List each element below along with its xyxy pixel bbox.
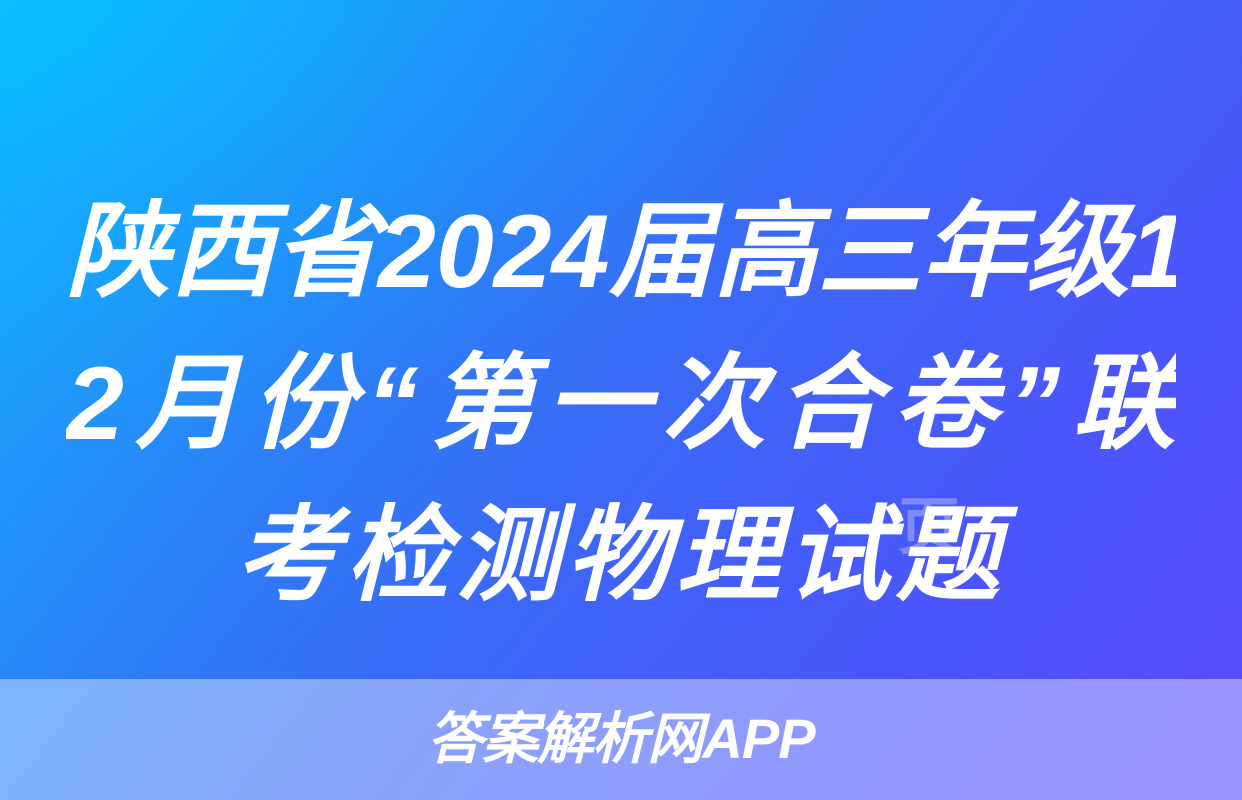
title-glyph: 2 [494,176,552,328]
title-glyph: 一 [546,328,650,480]
title-glyph: 合 [777,328,881,480]
title-glyph: 联 [1072,328,1176,480]
title-glyph: 三 [817,176,921,328]
exam-title-card: 页 陕 西 省 2 0 2 4 届 高 三 年 级 1 2 月 份 “ 第 一 … [0,0,1242,800]
title-glyph: “ [367,328,419,480]
title-line-2: 2 月 份 “ 第 一 次 合 卷 ” 联 [66,328,1176,480]
title-glyph: 次 [661,328,765,480]
title-glyph: 第 [430,328,534,480]
brand-watermark: 答案解析网APP [0,706,1242,772]
title-line-3: 考检测物理试题 [66,480,1176,632]
title-glyph: 高 [713,176,817,328]
title-glyph: 1 [1130,176,1177,328]
title-glyph: 省 [274,176,378,328]
title-glyph: 2 [66,328,124,480]
title-glyph: 月 [135,328,239,480]
title-glyph: 卷 [893,328,997,480]
title-glyph: 0 [436,176,494,328]
title-glyph: ” [1008,328,1060,480]
title-glyph: 陕 [66,176,170,328]
title-line-1: 陕 西 省 2 0 2 4 届 高 三 年 级 1 [66,176,1176,328]
title-glyph: 届 [609,176,713,328]
title-glyph: 年 [921,176,1025,328]
page-title: 陕 西 省 2 0 2 4 届 高 三 年 级 1 2 月 份 “ 第 一 次 … [0,176,1242,632]
title-glyph: 份 [251,328,355,480]
title-glyph: 4 [552,176,610,328]
title-glyph: 2 [378,176,436,328]
title-glyph: 级 [1025,176,1129,328]
title-glyph: 西 [170,176,274,328]
